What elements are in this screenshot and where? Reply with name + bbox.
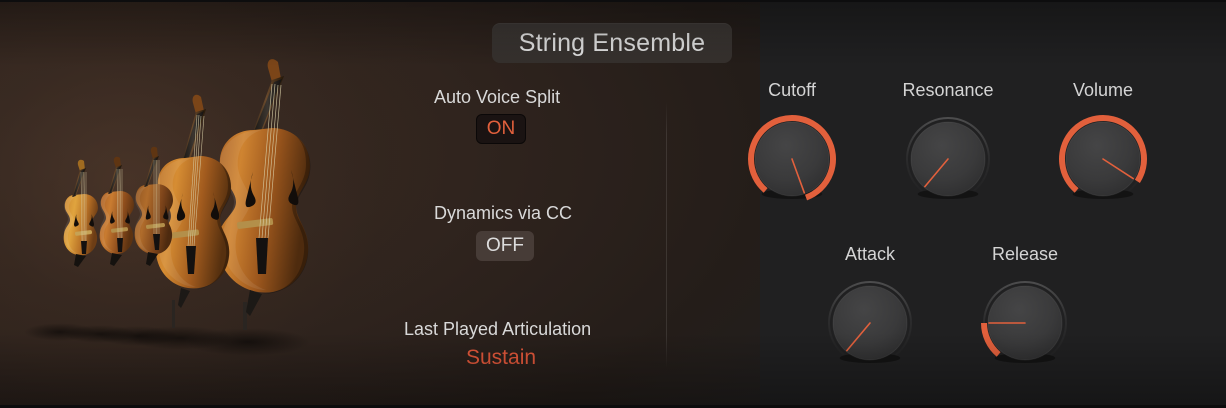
last-played-articulation-label: Last Played Articulation [404, 319, 591, 340]
knob-volume[interactable]: Volume [1048, 80, 1158, 214]
knob-cutoff-label: Cutoff [737, 80, 847, 101]
double-bass [218, 59, 311, 330]
page-title: String Ensemble [519, 29, 705, 58]
knob-volume-label: Volume [1048, 80, 1158, 101]
knob-resonance-dial[interactable] [893, 104, 1003, 214]
violin-1 [64, 160, 98, 267]
violin-2 [100, 157, 134, 266]
knob-attack-label: Attack [815, 244, 925, 265]
knob-volume-dial[interactable] [1048, 104, 1158, 214]
dynamics-via-cc-toggle[interactable]: OFF [476, 231, 534, 261]
section-divider [666, 102, 667, 368]
knob-release[interactable]: Release [970, 244, 1080, 378]
knob-cutoff-dial[interactable] [737, 104, 847, 214]
auto-voice-split-label: Auto Voice Split [434, 87, 560, 108]
dynamics-via-cc-label: Dynamics via CC [434, 203, 572, 224]
last-played-articulation-value: Sustain [466, 346, 536, 370]
knob-resonance[interactable]: Resonance [893, 80, 1003, 214]
knob-release-label: Release [970, 244, 1080, 265]
knob-attack-dial[interactable] [815, 268, 925, 378]
knob-release-dial[interactable] [970, 268, 1080, 378]
knob-resonance-label: Resonance [893, 80, 1003, 101]
auto-voice-split-toggle[interactable]: ON [476, 114, 526, 144]
knob-attack[interactable]: Attack [815, 244, 925, 378]
plugin-window: String Ensemble Auto Voice Split ON Dyna… [0, 0, 1226, 408]
string-family-artwork [0, 2, 370, 408]
knob-cutoff[interactable]: Cutoff [737, 80, 847, 214]
preset-title-pill[interactable]: String Ensemble [492, 23, 732, 63]
